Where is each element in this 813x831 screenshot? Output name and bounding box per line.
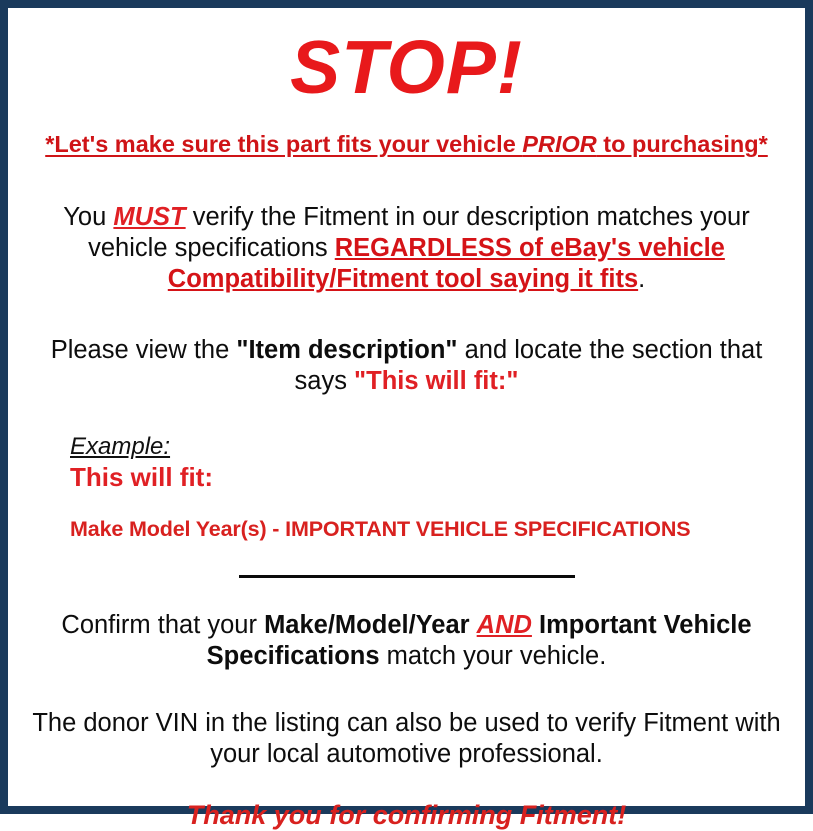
item-description-emphasis: "Item description" — [236, 336, 457, 364]
thank-you-message: Thank you for confirming Fitment! — [22, 800, 791, 831]
example-label-row: Example: — [70, 433, 791, 461]
must-verify-paragraph: You MUST verify the Fitment in our descr… — [22, 202, 791, 295]
example-label: Example: — [70, 433, 170, 461]
tagline-prefix: *Let's make sure this part fits your veh… — [45, 131, 522, 157]
confirm-segment-1: Confirm that your — [61, 611, 264, 639]
and-emphasis: AND — [477, 611, 532, 639]
view-segment-1: Please view the — [51, 336, 237, 364]
donor-vin-paragraph: The donor VIN in the listing can also be… — [22, 708, 791, 770]
this-will-fit-emphasis: "This will fit:" — [354, 367, 518, 395]
confirm-segment-3 — [532, 611, 539, 639]
section-divider-wrap — [22, 568, 791, 578]
page-title: STOP! — [22, 30, 791, 105]
confirm-segment-4: match your vehicle. — [380, 642, 607, 670]
must-emphasis: MUST — [113, 203, 185, 231]
tagline-emphasis-prior: PRIOR — [522, 131, 596, 157]
section-divider — [239, 575, 575, 578]
example-spec-line: Make Model Year(s) - IMPORTANT VEHICLE S… — [70, 517, 791, 542]
make-model-year-emphasis: Make/Model/Year — [264, 611, 470, 639]
must-segment-3: . — [638, 265, 645, 293]
confirm-segment-2 — [470, 611, 477, 639]
must-segment-1: You — [63, 203, 113, 231]
tagline: *Let's make sure this part fits your veh… — [22, 132, 791, 158]
tagline-suffix: to purchasing* — [597, 131, 768, 157]
item-description-paragraph: Please view the "Item description" and l… — [22, 335, 791, 397]
example-block: Example: This will fit: Make Model Year(… — [22, 433, 791, 541]
confirm-paragraph: Confirm that your Make/Model/Year AND Im… — [22, 610, 791, 672]
example-fit-heading: This will fit: — [70, 463, 791, 493]
fitment-notice-card: STOP! *Let's make sure this part fits yo… — [0, 0, 813, 814]
